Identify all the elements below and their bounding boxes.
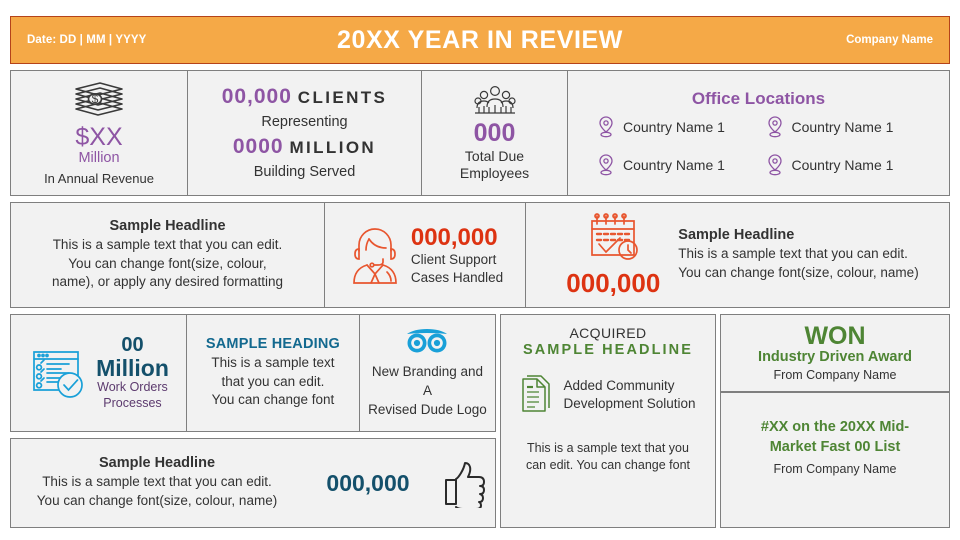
calendar-highlight-card: 000,000 Sample Headline This is a sample… <box>526 203 949 307</box>
acquired-headline: SAMPLE HEADLINE <box>523 342 693 358</box>
bottom-number-card: 000,000 <box>303 439 433 527</box>
bottom-number: 000,000 <box>326 470 409 497</box>
branding-card: New Branding and A Revised Dude Logo <box>360 315 495 431</box>
clients-label: CLIENTS <box>298 88 388 107</box>
office-location-item: Country Name 1 <box>596 115 753 139</box>
map-pin-icon <box>596 115 616 139</box>
work-orders-card: 00 Million Work Orders Processes <box>11 315 186 431</box>
map-pin-icon <box>596 153 616 177</box>
sample-text-line2: You can change font(size, colour, <box>68 255 266 274</box>
acquired-detail-line1: Added Community <box>563 377 695 395</box>
work-orders-number: 00 <box>96 334 169 356</box>
clients-number: 00,000 <box>222 85 292 108</box>
operations-row: 00 Million Work Orders Processes SAMPLE … <box>10 314 496 432</box>
document-icon <box>520 374 554 416</box>
employees-label-line1: Total Due <box>465 148 524 166</box>
bottom-icon-card <box>433 439 495 527</box>
stats-row: $ $XX Million In Annual Revenue 00,000 C… <box>10 70 950 196</box>
office-location-item: Country Name 1 <box>765 153 922 177</box>
buildings-number: 0000 <box>233 135 284 158</box>
work-orders-line2: Processes <box>96 396 169 412</box>
acquired-foot-line2: can edit. You can change font <box>526 457 690 474</box>
header-date: Date: DD | MM | YYYY <box>27 34 257 46</box>
calendar-number: 000,000 <box>566 269 660 299</box>
clients-middle-text: Representing <box>261 112 347 134</box>
client-support-card: 000,000 Client Support Cases Handled <box>325 203 525 307</box>
office-locations-card: Office Locations Country Name 1 <box>568 71 949 195</box>
sample-heading-line3: You can change font <box>212 391 335 410</box>
map-pin-icon <box>765 153 785 177</box>
calendar-line1: This is a sample text that you can edit. <box>678 245 918 264</box>
office-location-label: Country Name 1 <box>623 119 725 135</box>
work-orders-line1: Work Orders <box>96 380 169 396</box>
sample-heading-title: SAMPLE HEADING <box>206 336 340 352</box>
acquired-card: ACQUIRED SAMPLE HEADLINE Ad <box>500 314 716 528</box>
clients-caption: Building Served <box>254 162 356 183</box>
page-title: 20XX YEAR IN REVIEW <box>257 26 703 55</box>
award-won-source: From Company Name <box>774 367 897 383</box>
sample-heading-card: SAMPLE HEADING This is a sample text tha… <box>187 315 359 431</box>
map-pin-icon <box>765 115 785 139</box>
checklist-icon <box>28 344 90 402</box>
employees-label-line2: Employees <box>460 165 529 183</box>
infographic-page: Date: DD | MM | YYYY 20XX YEAR IN REVIEW… <box>0 0 960 540</box>
revenue-caption: In Annual Revenue <box>44 171 154 186</box>
sample-heading-line2: that you can edit. <box>222 373 325 392</box>
office-location-label: Country Name 1 <box>792 119 894 135</box>
clients-card: 00,000 CLIENTS Representing 0000 MILLION… <box>188 71 421 195</box>
buildings-unit: MILLION <box>289 138 376 157</box>
ranking-source: From Company Name <box>774 462 897 476</box>
branding-line1: New Branding and A <box>366 363 489 401</box>
client-support-number: 000,000 <box>411 224 503 252</box>
revenue-unit: Million <box>78 150 119 167</box>
bottom-line2: You can change font(size, colour, name) <box>37 492 277 511</box>
thumbs-up-icon <box>440 458 488 508</box>
money-stack-icon: $ <box>70 80 128 120</box>
sample-text-line3: name), or apply any desired formatting <box>52 273 283 292</box>
support-agent-icon <box>347 225 403 285</box>
office-location-item: Country Name 1 <box>596 153 753 177</box>
ranking-line2: Market Fast 00 List <box>761 438 909 458</box>
people-group-icon <box>473 83 517 117</box>
svg-text:$: $ <box>92 92 99 106</box>
bottom-line1: This is a sample text that you can edit. <box>42 473 272 492</box>
clients-primary-line: 00,000 CLIENTS <box>222 83 388 111</box>
office-location-item: Country Name 1 <box>765 115 922 139</box>
award-won-title: WON <box>804 323 865 349</box>
employees-number: 000 <box>474 120 516 148</box>
ranking-line1: #XX on the 20XX Mid- <box>761 418 909 438</box>
bottom-summary-row: Sample Headline This is a sample text th… <box>10 438 496 528</box>
ranking-card: #XX on the 20XX Mid- Market Fast 00 List… <box>720 392 950 528</box>
sample-text-line1: This is a sample text that you can edit. <box>53 236 283 255</box>
calendar-line2: You can change font(size, colour, name) <box>678 264 918 283</box>
sample-text-headline: Sample Headline <box>109 218 225 234</box>
work-orders-unit: Million <box>96 356 169 380</box>
header-company-name: Company Name <box>703 34 933 46</box>
highlights-row: Sample Headline This is a sample text th… <box>10 202 950 308</box>
header-bar: Date: DD | MM | YYYY 20XX YEAR IN REVIEW… <box>10 16 950 64</box>
owl-eyes-logo-icon <box>401 326 453 356</box>
branding-line2: Revised Dude Logo <box>368 401 487 420</box>
award-won-subtitle: Industry Driven Award <box>758 349 912 366</box>
office-locations-grid: Country Name 1 Country Name 1 <box>574 115 943 177</box>
client-support-line1: Client Support <box>411 251 503 269</box>
acquired-kicker: ACQUIRED <box>569 325 646 341</box>
employees-card: 000 Total Due Employees <box>422 71 567 195</box>
client-support-line2: Cases Handled <box>411 269 503 287</box>
clients-secondary-line: 0000 MILLION <box>233 133 376 161</box>
acquired-detail: Added Community Development Solution <box>520 374 695 416</box>
acquired-foot-line1: This is a sample text that you <box>526 440 690 457</box>
bottom-headline: Sample Headline <box>99 455 215 471</box>
office-location-label: Country Name 1 <box>623 157 725 173</box>
sample-text-card: Sample Headline This is a sample text th… <box>11 203 324 307</box>
revenue-card: $ $XX Million In Annual Revenue <box>11 71 187 195</box>
bottom-text-card: Sample Headline This is a sample text th… <box>11 439 303 527</box>
acquired-detail-line2: Development Solution <box>563 395 695 413</box>
calendar-headline: Sample Headline <box>678 227 918 243</box>
award-won-card: WON Industry Driven Award From Company N… <box>720 314 950 392</box>
calendar-check-icon <box>582 211 644 267</box>
sample-heading-line1: This is a sample text <box>211 354 334 373</box>
revenue-amount: $XX <box>75 124 122 150</box>
office-locations-title: Office Locations <box>692 89 825 109</box>
office-location-label: Country Name 1 <box>792 157 894 173</box>
